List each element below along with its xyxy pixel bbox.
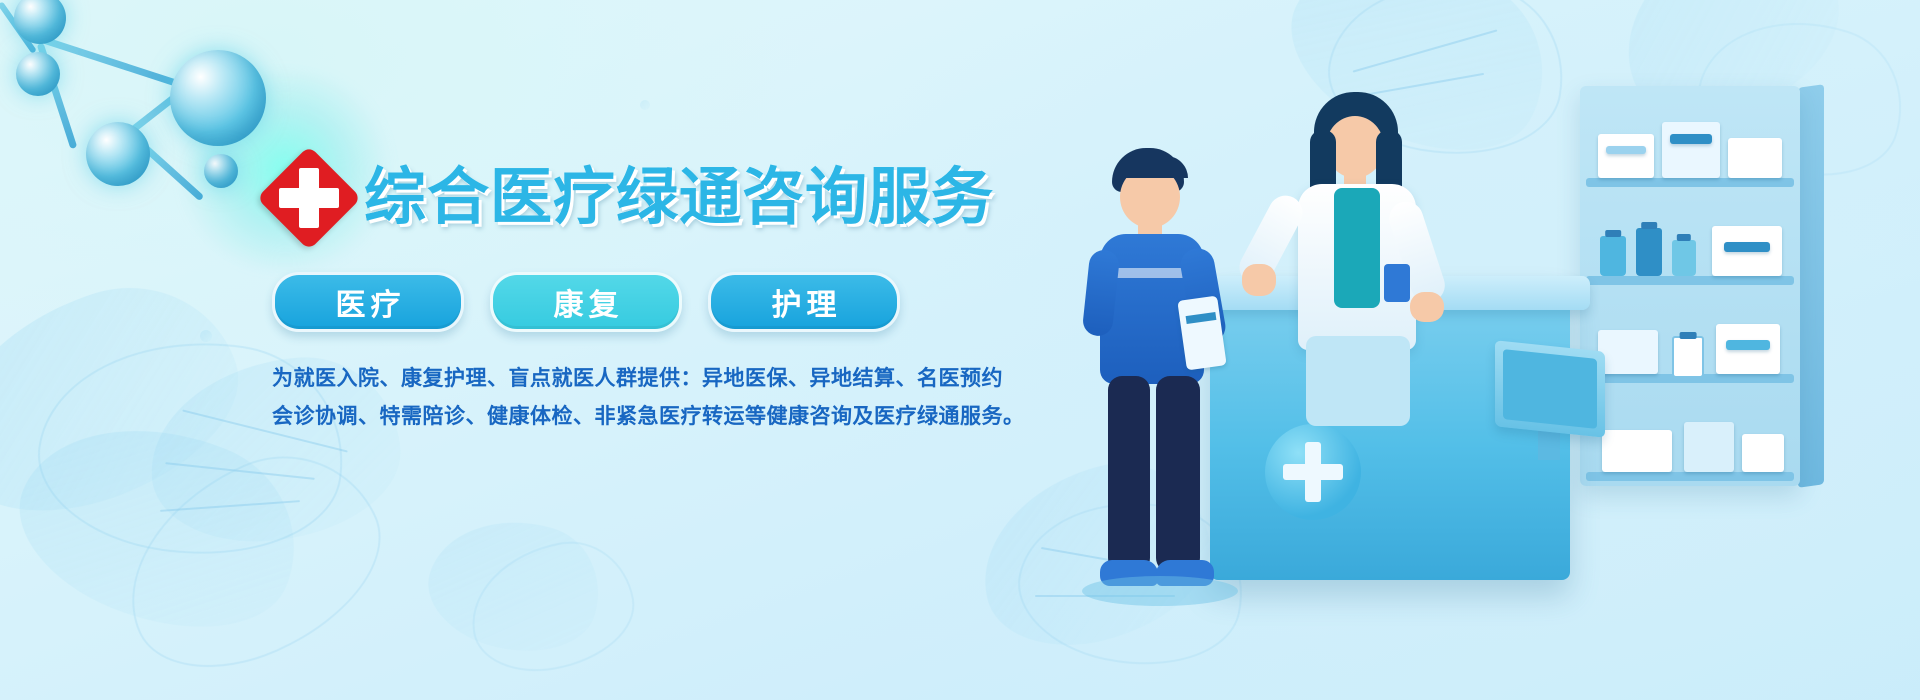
shelf-side-panel [1798,84,1824,488]
medicine-box-label [1670,134,1712,144]
pharmacy-consultation-scene [1040,0,1920,700]
description-line-1: 为就医入院、康复护理、盲点就医人群提供：异地医保、异地结算、名医预约 [272,364,992,394]
medicine-box [1728,138,1782,178]
counter-cross-icon [1265,424,1361,520]
healthcare-banner: 综合医疗绿通咨询服务 医疗 康复 护理 为就医入院、康复护理、盲点就医人群提供：… [0,0,1920,700]
title-row: 综合医疗绿通咨询服务 [272,150,992,246]
pill-medical-label: 医疗 [331,280,406,324]
pill-rehabilitation-label: 康复 [549,280,624,324]
banner-content: 综合医疗绿通咨询服务 医疗 康复 护理 为就医入院、康复护理、盲点就医人群提供：… [272,150,992,441]
page-title: 综合医疗绿通咨询服务 [364,167,994,229]
medicine-bottle [1636,228,1662,276]
red-cross-medical-logo [272,161,346,235]
medicine-box [1602,430,1672,472]
medicine-bottle [1600,236,1626,276]
id-badge [1384,264,1410,302]
pill-nursing-label: 护理 [767,280,842,324]
medicine-box-label [1726,340,1770,350]
description-line-2: 会诊协调、特需陪诊、健康体检、非紧急医疗转运等健康咨询及医疗绿通服务。 [272,402,992,432]
medicine-shelf [1580,86,1800,486]
service-category-pills: 医疗 康复 护理 [272,272,992,332]
medicine-bottle [1672,336,1704,378]
monitor [1495,340,1605,438]
pill-rehabilitation[interactable]: 康复 [490,272,682,332]
medicine-box [1598,330,1658,374]
medicine-box [1598,134,1654,178]
medicine-box [1742,434,1784,472]
medicine-box-label [1724,242,1770,252]
medicine-box [1684,422,1734,472]
female-pharmacist [1258,96,1478,426]
medicine-box-label [1606,146,1646,154]
medicine-bottle [1672,240,1696,276]
male-customer [1060,148,1250,628]
medicine-box [1662,122,1720,178]
pill-medical[interactable]: 医疗 [272,272,464,332]
pill-nursing[interactable]: 护理 [708,272,900,332]
description-block: 为就医入院、康复护理、盲点就医人群提供：异地医保、异地结算、名医预约 会诊协调、… [272,364,992,433]
